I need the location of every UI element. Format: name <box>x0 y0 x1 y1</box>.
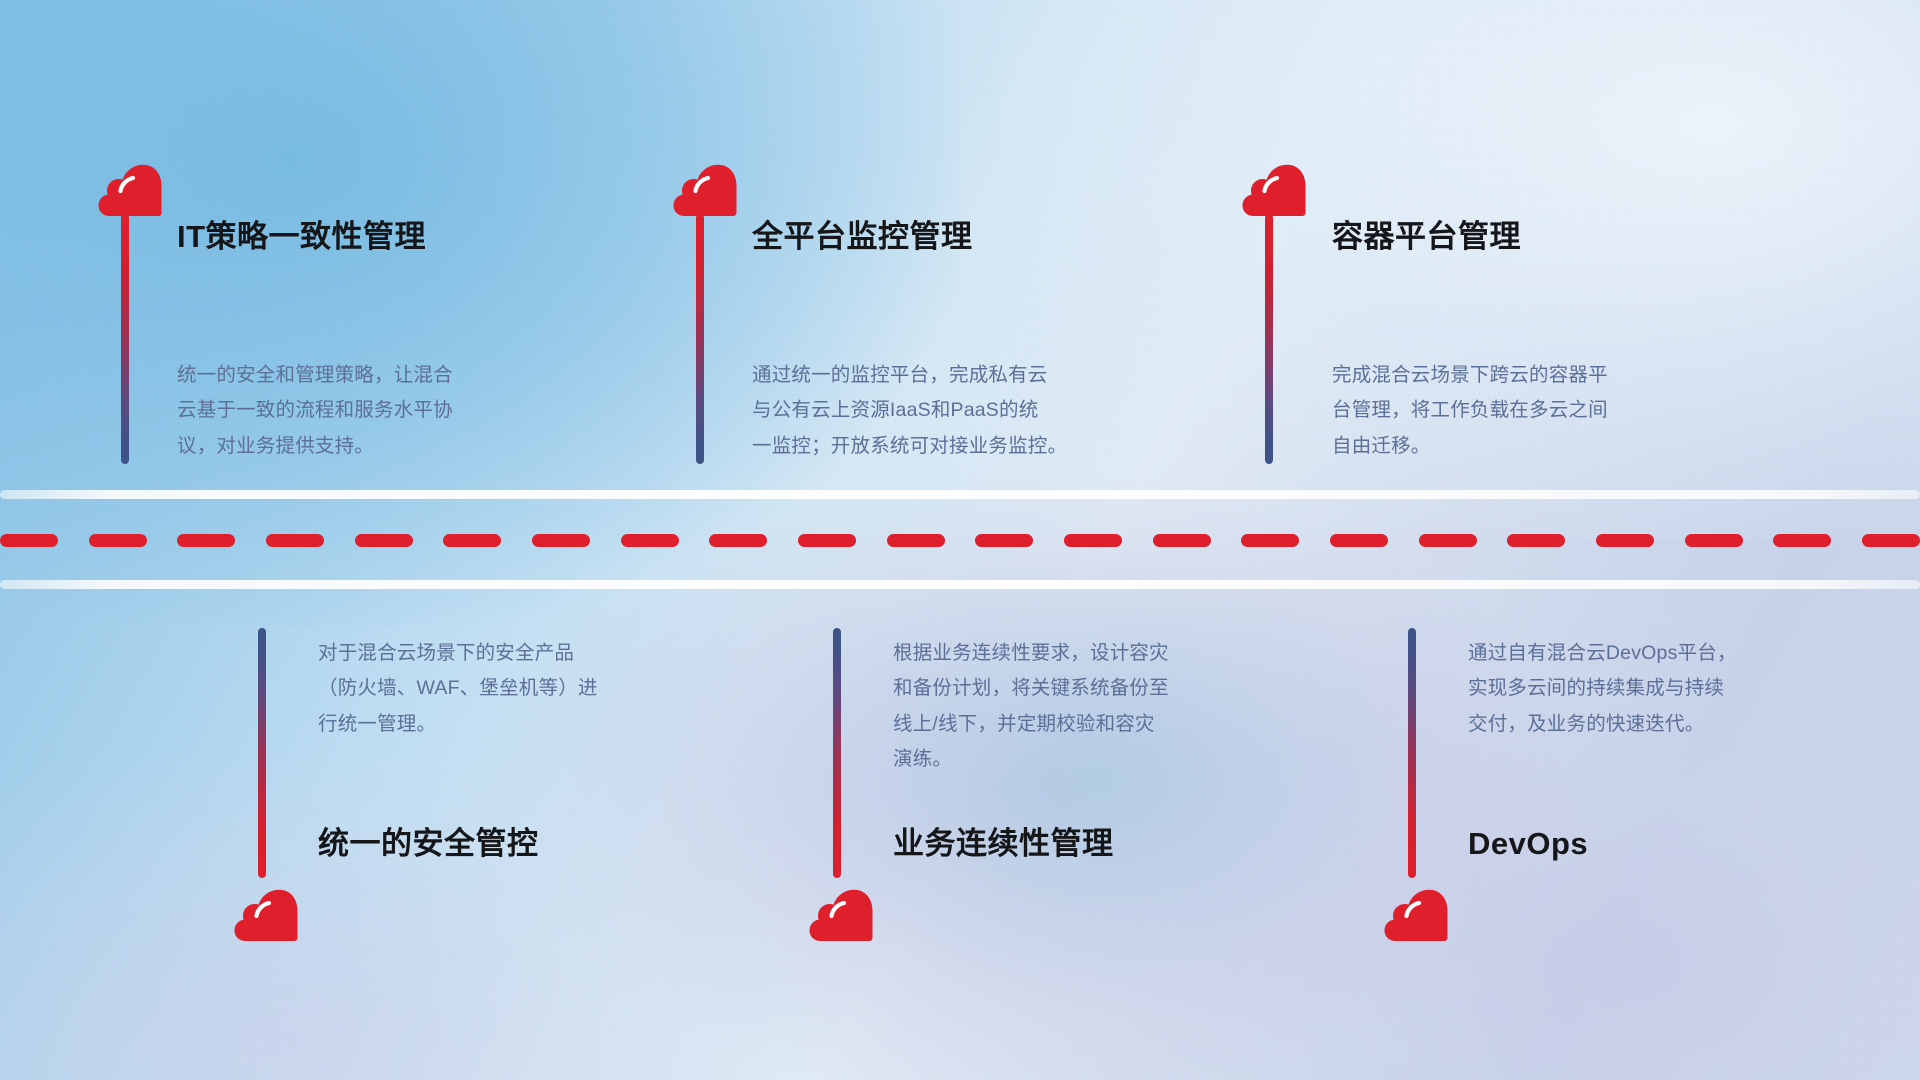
pin-heading: 统一的安全管控 <box>318 825 539 862</box>
divider-dash <box>355 534 413 547</box>
divider-dash <box>266 534 324 547</box>
pin-stem <box>1265 214 1273 464</box>
divider-dash <box>1419 534 1477 547</box>
pin-body-line: 对于混合云场景下的安全产品 <box>318 636 670 671</box>
pin-heading: 全平台监控管理 <box>752 218 973 255</box>
divider-dash <box>1507 534 1565 547</box>
pin-body-line: 交付，及业务的快速迭代。 <box>1468 707 1820 742</box>
divider-dash <box>443 534 501 547</box>
divider-dash <box>798 534 856 547</box>
divider-dash <box>975 534 1033 547</box>
divider-dash <box>709 534 767 547</box>
pin-body-line: 统一的安全和管理策略，让混合 <box>177 358 529 393</box>
pin-body: 统一的安全和管理策略，让混合 云基于一致的流程和服务水平协 议，对业务提供支持。 <box>177 358 529 464</box>
pin-body-line: 自由迁移。 <box>1332 429 1684 464</box>
cloud-icon <box>809 888 873 942</box>
divider-dash <box>1596 534 1654 547</box>
divider-dash <box>0 534 58 547</box>
divider-dash <box>1153 534 1211 547</box>
divider-dash <box>887 534 945 547</box>
pin-body-line: 完成混合云场景下跨云的容器平 <box>1332 358 1684 393</box>
divider-dash <box>1330 534 1388 547</box>
divider-dashed-line <box>0 534 1920 547</box>
cloud-icon <box>1384 888 1448 942</box>
cloud-icon <box>1242 163 1306 217</box>
pin-heading: IT策略一致性管理 <box>177 218 426 255</box>
divider-rule-bottom <box>0 580 1920 589</box>
divider-rule-top <box>0 490 1920 499</box>
pin-body-line: 议，对业务提供支持。 <box>177 429 529 464</box>
divider-dash <box>1862 534 1920 547</box>
divider-dash <box>621 534 679 547</box>
pin-body: 对于混合云场景下的安全产品 （防火墙、WAF、堡垒机等）进 行统一管理。 <box>318 636 670 742</box>
pin-body: 根据业务连续性要求，设计容灾 和备份计划，将关键系统备份至 线上/线下，并定期校… <box>893 636 1245 778</box>
pin-stem <box>1408 628 1416 878</box>
pin-body-line: 行统一管理。 <box>318 707 670 742</box>
pin-body-line: 台管理，将工作负载在多云之间 <box>1332 393 1684 428</box>
infographic-canvas: IT策略一致性管理 统一的安全和管理策略，让混合 云基于一致的流程和服务水平协 … <box>0 0 1920 1080</box>
cloud-icon <box>673 163 737 217</box>
pin-stem <box>121 214 129 464</box>
pin-body: 通过自有混合云DevOps平台， 实现多云间的持续集成与持续 交付，及业务的快速… <box>1468 636 1820 742</box>
pin-body-line: 通过自有混合云DevOps平台， <box>1468 636 1820 671</box>
pin-body-line: 一监控；开放系统可对接业务监控。 <box>752 429 1104 464</box>
pin-body-line: 云基于一致的流程和服务水平协 <box>177 393 529 428</box>
pin-body: 通过统一的监控平台，完成私有云 与公有云上资源IaaS和PaaS的统 一监控；开… <box>752 358 1104 464</box>
pin-body-line: 实现多云间的持续集成与持续 <box>1468 671 1820 706</box>
divider-dash <box>1685 534 1743 547</box>
pin-body-line: 和备份计划，将关键系统备份至 <box>893 671 1245 706</box>
cloud-icon <box>98 163 162 217</box>
pin-body-line: （防火墙、WAF、堡垒机等）进 <box>318 671 670 706</box>
pin-body-line: 与公有云上资源IaaS和PaaS的统 <box>752 393 1104 428</box>
divider-dash <box>1773 534 1831 547</box>
pin-body: 完成混合云场景下跨云的容器平 台管理，将工作负载在多云之间 自由迁移。 <box>1332 358 1684 464</box>
divider-dash <box>89 534 147 547</box>
pin-stem <box>258 628 266 878</box>
divider-dash <box>1064 534 1122 547</box>
pin-body-line: 演练。 <box>893 742 1245 777</box>
divider-dash <box>532 534 590 547</box>
pin-heading: DevOps <box>1468 825 1588 862</box>
pin-stem <box>833 628 841 878</box>
pin-body-line: 通过统一的监控平台，完成私有云 <box>752 358 1104 393</box>
pin-heading: 容器平台管理 <box>1332 218 1521 255</box>
pin-body-line: 线上/线下，并定期校验和容灾 <box>893 707 1245 742</box>
divider-dash <box>1241 534 1299 547</box>
pin-stem <box>696 214 704 464</box>
pin-body-line: 根据业务连续性要求，设计容灾 <box>893 636 1245 671</box>
cloud-icon <box>234 888 298 942</box>
pin-heading: 业务连续性管理 <box>893 825 1114 862</box>
divider-dash <box>177 534 235 547</box>
